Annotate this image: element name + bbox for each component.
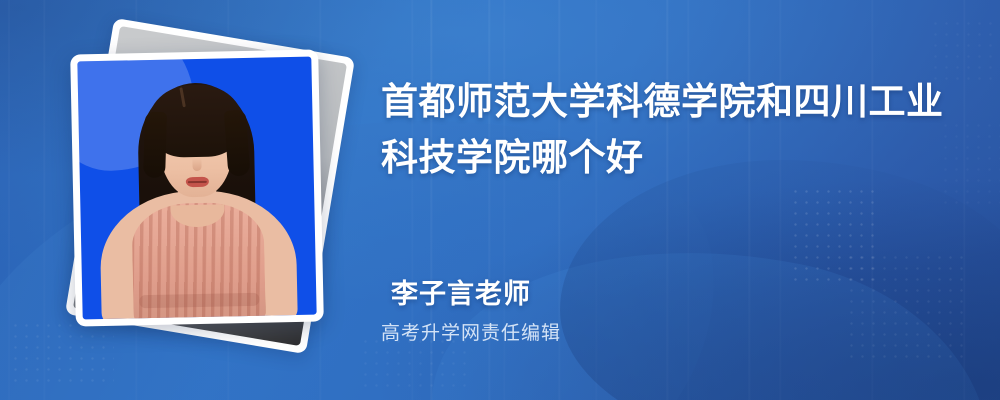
author-name: 李子言老师: [391, 272, 531, 311]
portrait-collar: [170, 204, 224, 227]
portrait-nose: [192, 158, 201, 171]
author-role: 高考升学网责任编辑: [381, 318, 561, 345]
page-title: 首都师范大学科德学院和四川工业科技学院哪个好: [381, 74, 961, 186]
portrait-dress: [131, 202, 265, 320]
avatar: [77, 57, 316, 320]
photo-card-stack: [48, 22, 368, 362]
portrait-lips: [186, 177, 209, 187]
portrait-hair-front: [147, 84, 244, 158]
article-cover-banner: 首都师范大学科德学院和四川工业科技学院哪个好 李子言老师 高考升学网责任编辑: [0, 0, 1000, 400]
photo-card-front[interactable]: [70, 49, 324, 326]
banner-text-column: 首都师范大学科德学院和四川工业科技学院哪个好 李子言老师 高考升学网责任编辑: [381, 0, 981, 400]
